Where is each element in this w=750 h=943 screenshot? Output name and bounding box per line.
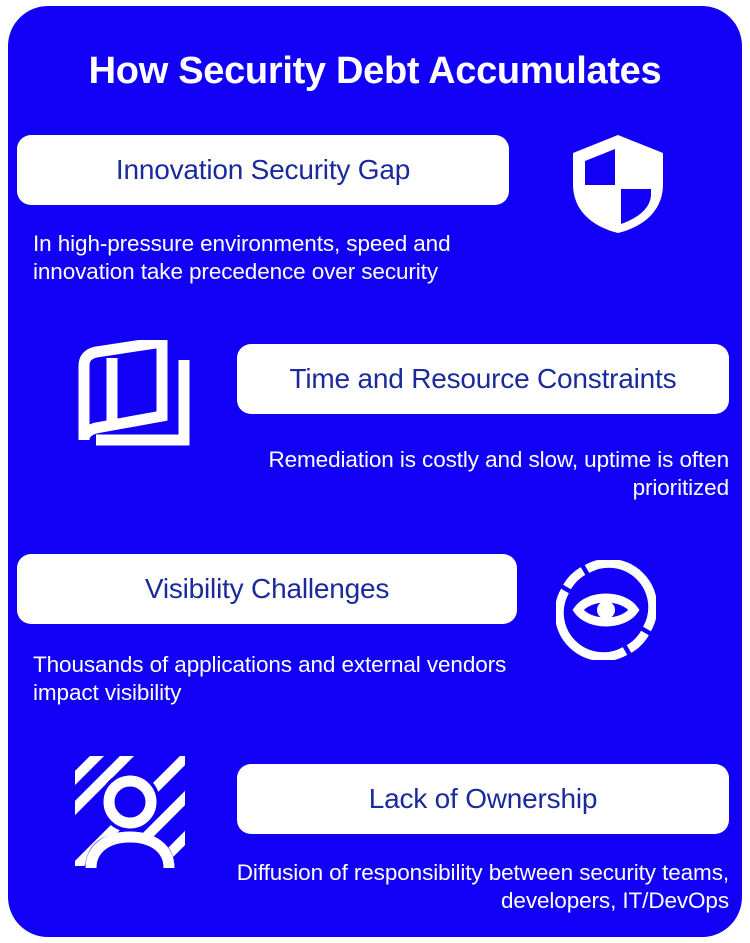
description-time-and-resource-constraints: Remediation is costly and slow, uptime i… <box>203 446 729 502</box>
description-visibility-challenges: Thousands of applications and external v… <box>33 651 553 707</box>
card-label: Lack of Ownership <box>369 783 598 815</box>
shield-icon <box>568 132 668 236</box>
page-title: How Security Debt Accumulates <box>8 48 742 94</box>
description-lack-of-ownership: Diffusion of responsibility between secu… <box>203 859 729 915</box>
card-label: Time and Resource Constraints <box>290 363 677 395</box>
card-innovation-security-gap[interactable]: Innovation Security Gap <box>17 135 509 205</box>
card-lack-of-ownership[interactable]: Lack of Ownership <box>237 764 729 834</box>
infographic-panel: How Security Debt Accumulates Innovation… <box>8 6 742 937</box>
card-label: Innovation Security Gap <box>116 154 410 186</box>
card-time-and-resource-constraints[interactable]: Time and Resource Constraints <box>237 344 729 414</box>
card-visibility-challenges[interactable]: Visibility Challenges <box>17 554 517 624</box>
open-book-icon <box>78 340 200 450</box>
description-innovation-security-gap: In high-pressure environments, speed and… <box>33 230 553 286</box>
card-label: Visibility Challenges <box>145 573 389 605</box>
eye-blocked-icon <box>556 560 656 660</box>
user-hatched-icon <box>71 752 189 870</box>
